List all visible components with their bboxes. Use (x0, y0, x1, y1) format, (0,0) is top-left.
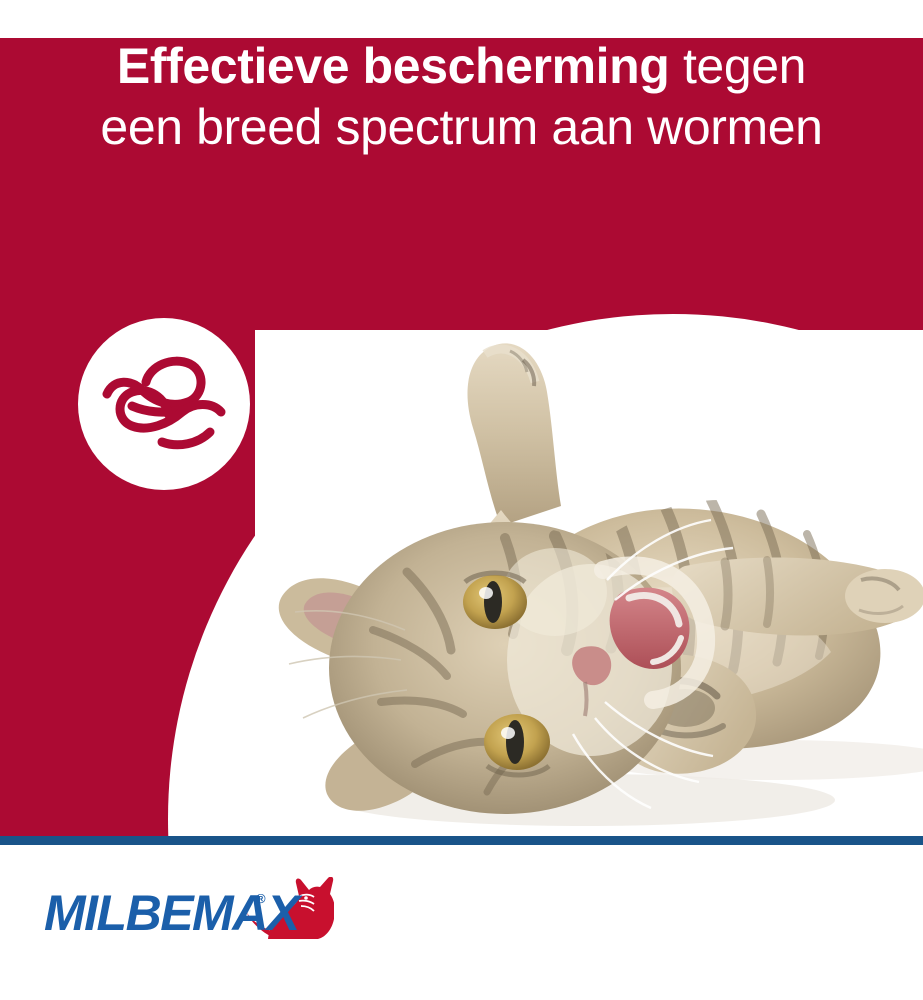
blue-divider (0, 836, 923, 845)
top-white-strip (0, 0, 923, 38)
worms-icon (102, 350, 226, 458)
milbemax-logo[interactable]: MILBEMAX ® (44, 881, 334, 943)
promo-banner: Effectieve bescherming tegen een breed s… (0, 0, 923, 1000)
headline-line1-light: tegen (669, 38, 806, 94)
kitten-photo (255, 330, 923, 836)
logo-trademark: ® (256, 891, 266, 906)
headline-line1-bold: Effectieve bescherming (117, 38, 670, 94)
footer: MILBEMAX ® (0, 845, 923, 1000)
page-title: Effectieve bescherming tegen een breed s… (0, 40, 923, 154)
headline-line2: een breed spectrum aan wormen (0, 101, 923, 154)
worms-badge (78, 318, 250, 490)
